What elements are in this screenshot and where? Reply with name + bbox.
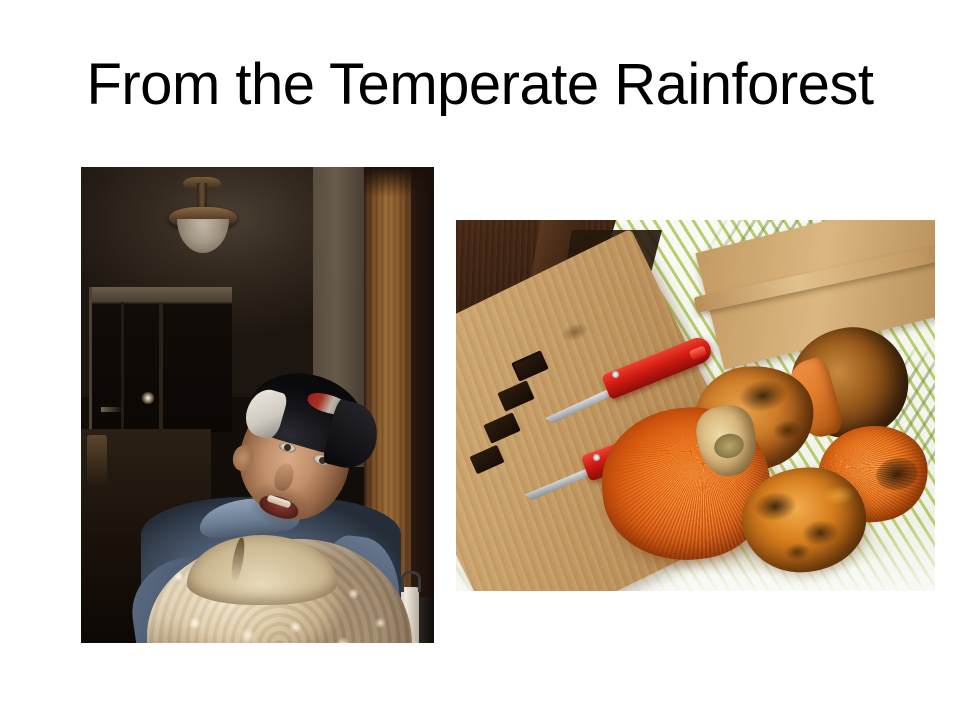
saffron-milkcap-front [737, 462, 871, 578]
background-appliance [419, 597, 434, 643]
person-pupil-left [284, 444, 291, 451]
counter-object [87, 435, 107, 485]
saffron-milkcap-front-staining [737, 462, 871, 578]
saffron-milkcap-photo[interactable] [456, 220, 935, 591]
door-frame-top-shadow [364, 167, 434, 197]
window-mullion-secondary [121, 302, 124, 432]
ceiling-light-stem [197, 183, 207, 209]
cauliflower-mushroom-photo[interactable] [81, 167, 434, 643]
window-reflection [141, 392, 155, 404]
page-title: From the Temperate Rainforest [0, 52, 960, 118]
window-reflection-secondary [101, 407, 123, 412]
folding-knife-rivet [612, 371, 619, 378]
window-mullion [159, 302, 163, 432]
presentation-slide: From the Temperate Rainforest [0, 0, 960, 720]
